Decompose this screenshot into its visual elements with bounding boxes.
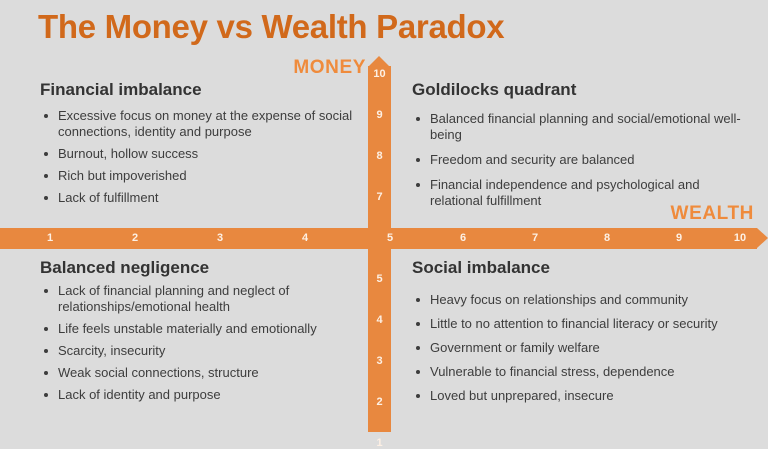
list-item: Excessive focus on money at the expense … xyxy=(40,108,358,140)
x-tick: 1 xyxy=(35,232,65,244)
list-item: Life feels unstable materially and emoti… xyxy=(40,321,358,337)
quadrant-financial-imbalance: Financial imbalance Excessive focus on m… xyxy=(40,80,358,212)
quadrant-list: Balanced financial planning and social/e… xyxy=(412,111,752,209)
list-item: Loved but unprepared, insecure xyxy=(412,388,752,404)
list-item: Lack of financial planning and neglect o… xyxy=(40,283,358,315)
y-tick: 4 xyxy=(368,314,391,326)
quadrant-list: Lack of financial planning and neglect o… xyxy=(40,283,358,403)
y-tick: 8 xyxy=(368,150,391,162)
page-title: The Money vs Wealth Paradox xyxy=(38,8,504,46)
x-tick: 8 xyxy=(592,232,622,244)
quadrant-title: Financial imbalance xyxy=(40,80,358,100)
x-tick: 7 xyxy=(520,232,550,244)
y-tick: 9 xyxy=(368,109,391,121)
list-item: Government or family welfare xyxy=(412,340,752,356)
y-tick: 1 xyxy=(368,437,391,449)
quadrant-balanced-negligence: Balanced negligence Lack of financial pl… xyxy=(40,258,358,409)
y-tick: 10 xyxy=(368,68,391,80)
y-tick: 3 xyxy=(368,355,391,367)
list-item: Weak social connections, structure xyxy=(40,365,358,381)
quadrant-goldilocks: Goldilocks quadrant Balanced financial p… xyxy=(412,80,752,218)
list-item: Freedom and security are balanced xyxy=(412,152,752,168)
y-tick: 2 xyxy=(368,396,391,408)
quadrant-title: Social imbalance xyxy=(412,258,752,278)
x-tick: 9 xyxy=(664,232,694,244)
x-axis: 1 2 3 4 5 6 7 8 9 10 xyxy=(0,228,768,249)
list-item: Rich but impoverished xyxy=(40,168,358,184)
x-tick: 2 xyxy=(120,232,150,244)
quadrant-list: Heavy focus on relationships and communi… xyxy=(412,292,752,404)
list-item: Scarcity, insecurity xyxy=(40,343,358,359)
quadrant-title: Goldilocks quadrant xyxy=(412,80,752,100)
paradox-matrix-slide: The Money vs Wealth Paradox MONEY WEALTH… xyxy=(0,0,768,432)
x-tick: 4 xyxy=(290,232,320,244)
list-item: Burnout, hollow success xyxy=(40,146,358,162)
y-tick: 5 xyxy=(368,273,391,285)
x-tick: 6 xyxy=(448,232,478,244)
x-tick: 5 xyxy=(375,232,405,244)
x-tick: 3 xyxy=(205,232,235,244)
quadrant-social-imbalance: Social imbalance Heavy focus on relation… xyxy=(412,258,752,412)
list-item: Heavy focus on relationships and communi… xyxy=(412,292,752,308)
y-axis-label: MONEY xyxy=(293,57,366,79)
y-tick: 7 xyxy=(368,191,391,203)
quadrant-list: Excessive focus on money at the expense … xyxy=(40,108,358,206)
list-item: Little to no attention to financial lite… xyxy=(412,316,752,332)
list-item: Financial independence and psychological… xyxy=(412,177,752,209)
list-item: Lack of fulfillment xyxy=(40,190,358,206)
x-axis-arrow-icon xyxy=(757,228,768,248)
quadrant-title: Balanced negligence xyxy=(40,258,358,278)
list-item: Balanced financial planning and social/e… xyxy=(412,111,752,143)
x-tick: 10 xyxy=(725,232,755,244)
list-item: Lack of identity and purpose xyxy=(40,387,358,403)
list-item: Vulnerable to financial stress, dependen… xyxy=(412,364,752,380)
